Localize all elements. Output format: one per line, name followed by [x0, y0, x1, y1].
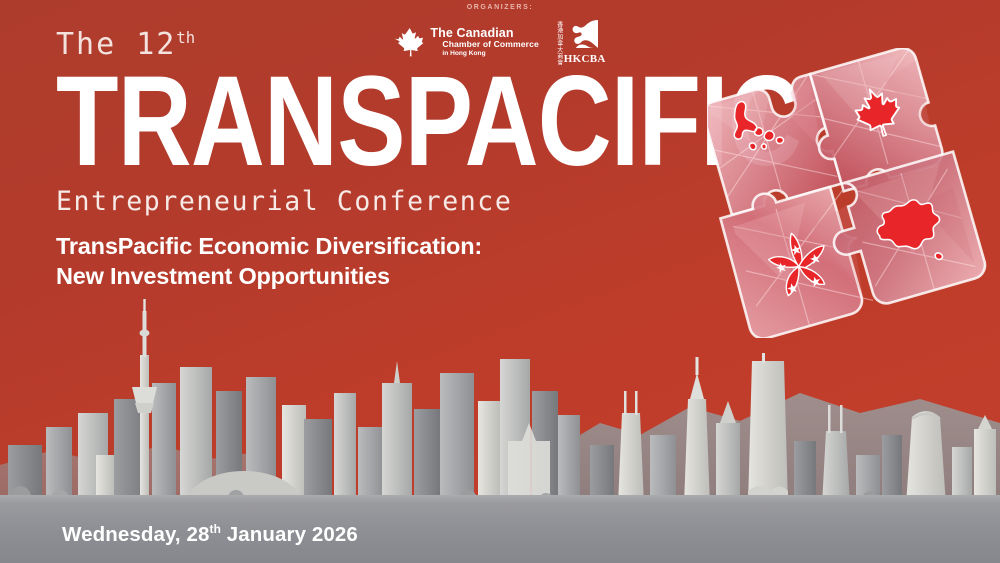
- page-title: TRANSPACIFIC: [56, 66, 801, 179]
- four-region-puzzle-graphic: [708, 48, 988, 338]
- event-date-month-year: January 2026: [221, 522, 358, 545]
- date-bar: Wednesday, 28th January 2026: [0, 505, 1000, 563]
- chamber-line-3: in Hong Kong: [430, 50, 538, 57]
- midtown-skyline: [382, 359, 580, 505]
- chamber-line-1: The Canadian: [430, 26, 538, 40]
- icc-tower-icon: [748, 353, 788, 505]
- hkcba-mark-wrap: HKCBA: [564, 18, 606, 65]
- event-date-ordinal: th: [210, 522, 221, 536]
- toronto-skyline: [8, 299, 384, 505]
- chamber-line-2: Chamber of Commerce: [430, 40, 538, 50]
- hkcba-name: HKCBA: [564, 54, 606, 65]
- event-date-weekday-day: Wednesday, 28: [62, 522, 210, 545]
- bank-of-china-tower-icon: [618, 391, 644, 505]
- hkcba-bear-icon: [568, 18, 602, 48]
- organizer-logos: The Canadian Chamber of Commerce in Hong…: [0, 18, 1000, 66]
- event-date: Wednesday, 28th January 2026: [62, 522, 358, 547]
- organizers-section: ORGANIZERS: The Canadian Chamber of Comm…: [0, 4, 1000, 66]
- ground-strip: [0, 495, 1000, 505]
- two-ifc-icon: [906, 411, 946, 505]
- hkcba-logo[interactable]: 香港加拿大商會 HKCBA: [555, 18, 606, 66]
- conference-banner: ORGANIZERS: The Canadian Chamber of Comm…: [0, 0, 1000, 563]
- central-plaza-icon: [684, 357, 710, 505]
- organizers-label: ORGANIZERS:: [0, 4, 1000, 11]
- canadian-chamber-logo[interactable]: The Canadian Chamber of Commerce in Hong…: [394, 26, 538, 58]
- hkcba-chinese-name: 香港加拿大商會: [555, 21, 562, 66]
- canadian-chamber-text: The Canadian Chamber of Commerce in Hong…: [430, 26, 538, 57]
- maple-leaf-icon: [394, 26, 424, 58]
